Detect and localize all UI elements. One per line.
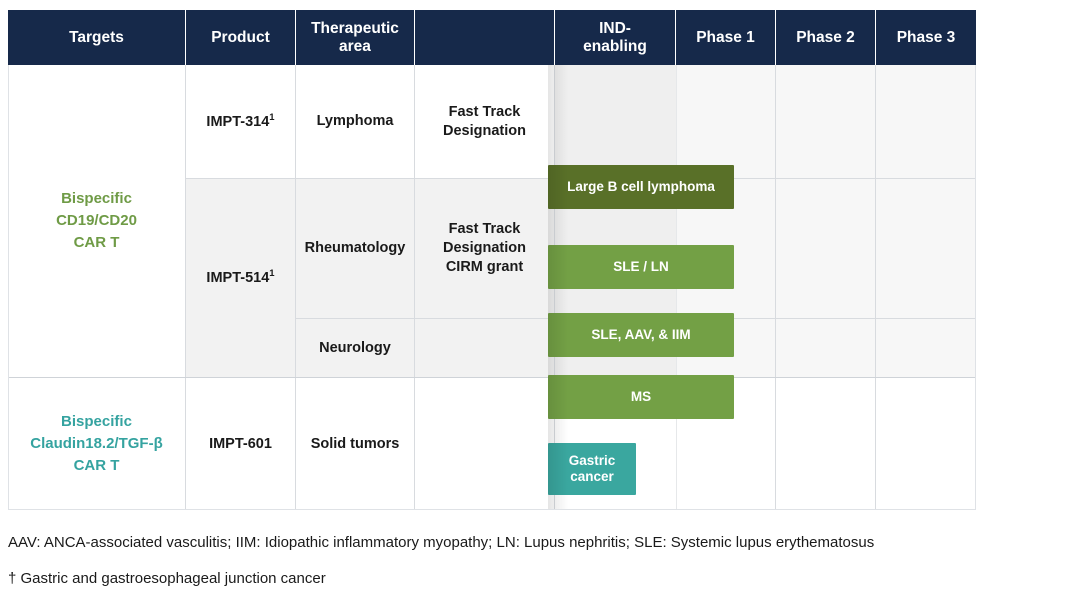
- table-row-impt514-neurology: Neurology: [296, 319, 976, 377]
- ind-enabling-cell-impt514-rheum: [555, 179, 676, 318]
- product-superscript-impt314: 1: [269, 112, 274, 123]
- footnote-abbreviations: AAV: ANCA-associated vasculitis; IIM: Id…: [8, 535, 1072, 550]
- column-header-ind-enabling: IND- enabling: [555, 10, 676, 65]
- column-header-phase-2: Phase 2: [776, 10, 876, 65]
- designation-line1-impt314: Fast Track: [443, 103, 526, 122]
- therapeutic-area-label-solid-tumors: Solid tumors: [311, 435, 400, 454]
- phase1-cell-impt514-rheum: [676, 179, 776, 318]
- column-header-product-label: Product: [211, 29, 270, 47]
- designation-line2-impt514: Designation: [443, 239, 526, 258]
- phase1-cell-neurology: [676, 319, 776, 377]
- impt514-subrows: Rheumatology Fast Track Designation CIRM…: [296, 179, 976, 377]
- designation-line2-impt314: Designation: [443, 122, 526, 141]
- targets-cell-cd19-cd20: Bispecific CD19/CD20 CAR T: [8, 65, 186, 377]
- therapeutic-area-label-rheumatology: Rheumatology: [305, 239, 406, 258]
- table-group-claudin: Bispecific Claudin18.2/TGF-β CAR T IMPT-…: [8, 378, 976, 510]
- designation-cell-impt601: [415, 378, 555, 510]
- ind-enabling-cell-impt601: [555, 378, 676, 510]
- designation-cell-impt514: Fast Track Designation CIRM grant: [415, 179, 555, 318]
- therapeutic-area-cell-rheumatology: Rheumatology: [296, 179, 415, 318]
- designation-line3-impt514: CIRM grant: [443, 258, 526, 277]
- therapeutic-area-cell-solid-tumors: Solid tumors: [296, 378, 415, 510]
- table-row-impt514-rheumatology: Rheumatology Fast Track Designation CIRM…: [296, 179, 976, 318]
- column-header-ind-line2: enabling: [583, 38, 647, 56]
- ind-enabling-cell-neurology: [555, 319, 676, 377]
- column-header-ind-line1: IND-: [583, 20, 647, 38]
- targets-line1: Bispecific: [56, 188, 137, 210]
- column-header-phase-1-label: Phase 1: [696, 29, 755, 47]
- designation-line1-impt514: Fast Track: [443, 220, 526, 239]
- product-superscript-impt514: 1: [269, 268, 274, 279]
- column-header-phase-2-label: Phase 2: [796, 29, 855, 47]
- column-header-product: Product: [186, 10, 296, 65]
- column-header-therapeutic-area: Therapeutic area: [296, 10, 415, 65]
- ind-enabling-cell-impt314: [555, 65, 676, 178]
- table-header-row: Targets Product Therapeutic area IND- en…: [8, 10, 976, 65]
- designation-cell-neurology: [415, 319, 555, 377]
- product-cell-impt514: IMPT-5141: [186, 179, 296, 377]
- phase2-cell-impt514-rheum: [776, 179, 876, 318]
- product-name-impt601: IMPT-601: [209, 435, 272, 454]
- therapeutic-area-label-neurology: Neurology: [319, 339, 391, 358]
- group-cd19-rows: IMPT-3141 Lymphoma Fast Track Designatio…: [186, 65, 976, 377]
- targets-line2: CD19/CD20: [56, 210, 137, 232]
- targets-cell-claudin: Bispecific Claudin18.2/TGF-β CAR T: [8, 378, 186, 510]
- table-row-impt314-lymphoma: IMPT-3141 Lymphoma Fast Track Designatio…: [186, 65, 976, 178]
- therapeutic-area-cell-neurology: Neurology: [296, 319, 415, 377]
- column-header-therapeutic-area-line2: area: [311, 38, 399, 56]
- designation-cell-impt314: Fast Track Designation: [415, 65, 555, 178]
- phase3-cell-impt314: [876, 65, 976, 178]
- phase3-cell-impt601: [876, 378, 976, 510]
- targets-line3: CAR T: [56, 232, 137, 254]
- targets-claudin-line1: Bispecific: [30, 411, 163, 433]
- table-group-impt514: IMPT-5141 Rheumatology: [186, 179, 976, 377]
- product-name-impt314: IMPT-314: [206, 113, 269, 129]
- table-group-cd19-cd20: Bispecific CD19/CD20 CAR T IMPT-3141: [8, 65, 976, 377]
- phase2-cell-impt314: [776, 65, 876, 178]
- pipeline-table: Targets Product Therapeutic area IND- en…: [8, 10, 976, 510]
- product-cell-impt601: IMPT-601: [186, 378, 296, 510]
- column-header-phase-1: Phase 1: [676, 10, 776, 65]
- column-header-phase-3: Phase 3: [876, 10, 976, 65]
- product-cell-impt314: IMPT-3141: [186, 65, 296, 178]
- targets-claudin-line2: Claudin18.2/TGF-β: [30, 433, 163, 455]
- pipeline-page: Targets Product Therapeutic area IND- en…: [0, 0, 1080, 597]
- phase1-cell-impt601: [676, 378, 776, 510]
- phase3-cell-neurology: [876, 319, 976, 377]
- phase3-cell-impt514-rheum: [876, 179, 976, 318]
- footnotes: AAV: ANCA-associated vasculitis; IIM: Id…: [8, 535, 1072, 597]
- therapeutic-area-label-lymphoma: Lymphoma: [317, 112, 394, 131]
- column-header-targets: Targets: [8, 10, 186, 65]
- column-header-designation: [415, 10, 555, 65]
- column-header-targets-label: Targets: [69, 29, 124, 47]
- product-name-impt514: IMPT-514: [206, 270, 269, 286]
- table-body: Bispecific CD19/CD20 CAR T IMPT-3141: [8, 65, 976, 510]
- column-header-therapeutic-area-line1: Therapeutic: [311, 20, 399, 38]
- phase1-cell-impt314: [676, 65, 776, 178]
- phase2-cell-neurology: [776, 319, 876, 377]
- footnote-gastric: † Gastric and gastroesophageal junction …: [8, 571, 1072, 586]
- targets-claudin-line3: CAR T: [30, 455, 163, 477]
- column-header-phase-3-label: Phase 3: [897, 29, 956, 47]
- therapeutic-area-cell-lymphoma: Lymphoma: [296, 65, 415, 178]
- phase2-cell-impt601: [776, 378, 876, 510]
